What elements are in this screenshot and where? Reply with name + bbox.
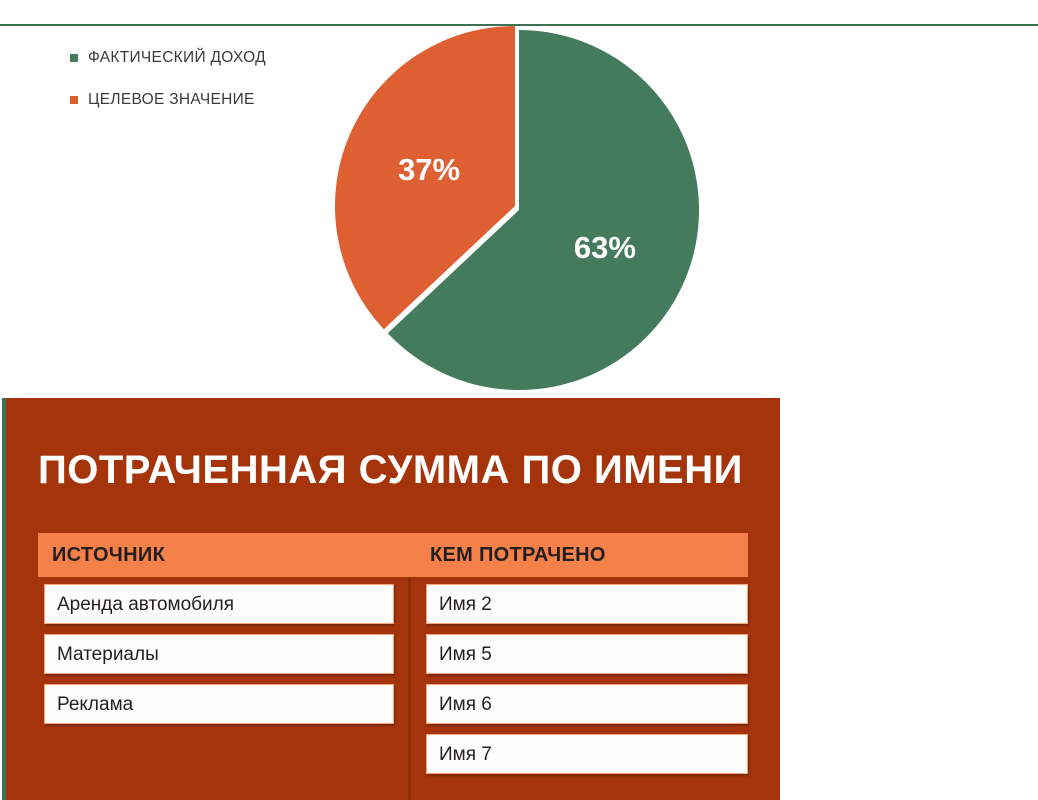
legend-swatch-actual-income [70,54,78,62]
table-header-spent-by: КЕМ ПОТРАЧЕНО [430,533,606,577]
pie-chart[interactable]: 37% 63% [325,26,715,390]
cell-spent-by-1: Имя 5 [439,635,492,675]
pie-label-actual-income: 63% [574,230,636,265]
cell-spent-by-0: Имя 2 [439,585,492,625]
legend-label-target-value: ЦЕЛЕВОЕ ЗНАЧЕНИЕ [88,91,255,109]
cell-spent-by-2: Имя 6 [439,685,492,725]
panel-title: ПОТРАЧЕННАЯ СУММА ПО ИМЕНИ [38,448,743,493]
table-column-divider [408,577,411,800]
pie-chart-svg: 37% 63% [325,26,715,390]
legend-label-actual-income: ФАКТИЧЕСКИЙ ДОХОД [88,49,266,67]
table-row[interactable]: Имя 2 [426,584,748,624]
table-row[interactable]: Материалы [44,634,394,674]
cell-source-2: Реклама [57,685,133,725]
cell-source-1: Материалы [57,635,159,675]
table-header-source: ИСТОЧНИК [52,533,165,577]
table-row[interactable]: Реклама [44,684,394,724]
cell-source-0: Аренда автомобиля [57,585,234,625]
legend-item-target-value[interactable]: ЦЕЛЕВОЕ ЗНАЧЕНИЕ [70,88,330,112]
table-row[interactable]: Аренда автомобиля [44,584,394,624]
table-row[interactable]: Имя 5 [426,634,748,674]
table-row[interactable]: Имя 6 [426,684,748,724]
pie-chart-section: ФАКТИЧЕСКИЙ ДОХОД ЦЕЛЕВОЕ ЗНАЧЕНИЕ 37% 6… [0,0,1038,394]
chart-legend: ФАКТИЧЕСКИЙ ДОХОД ЦЕЛЕВОЕ ЗНАЧЕНИЕ [70,46,330,130]
legend-swatch-target-value [70,96,78,104]
pie-label-target-value: 37% [398,152,460,187]
spending-panel: ПОТРАЧЕННАЯ СУММА ПО ИМЕНИ ИСТОЧНИК КЕМ … [6,398,780,800]
table-header-row: ИСТОЧНИК КЕМ ПОТРАЧЕНО [38,533,748,577]
cell-spent-by-3: Имя 7 [439,735,492,775]
table-row[interactable]: Имя 7 [426,734,748,774]
legend-item-actual-income[interactable]: ФАКТИЧЕСКИЙ ДОХОД [70,46,330,70]
